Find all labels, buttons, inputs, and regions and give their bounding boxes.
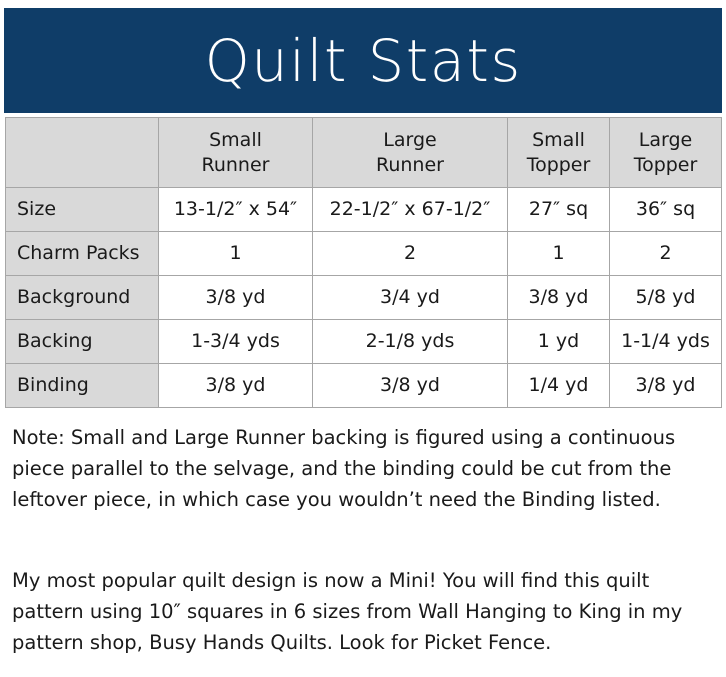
table-header: Small Runner Large Runner Small Topper L… — [6, 118, 722, 188]
note-line-1: Note: Small and Large Runner backing is … — [12, 422, 714, 453]
outro-line-1: My most popular quilt design is now a Mi… — [12, 565, 714, 596]
cell-charm-packs-large-runner: 2 — [313, 232, 508, 276]
outro-paragraph: My most popular quilt design is now a Mi… — [12, 565, 714, 658]
cell-background-small-topper: 3/8 yd — [508, 276, 610, 320]
column-header-line-2: Runner — [159, 153, 312, 177]
note-line-2: piece parallel to the selvage, and the b… — [12, 453, 714, 484]
cell-size-small-topper: 27″ sq — [508, 188, 610, 232]
cell-binding-small-runner: 3/8 yd — [159, 364, 313, 408]
cell-backing-small-topper: 1 yd — [508, 320, 610, 364]
cell-backing-small-runner: 1-3/4 yds — [159, 320, 313, 364]
column-header-line-1: Small — [508, 128, 609, 152]
row-label-charm-packs: Charm Packs — [6, 232, 159, 276]
column-header-large-runner: Large Runner — [313, 118, 508, 188]
cell-background-large-runner: 3/4 yd — [313, 276, 508, 320]
cell-charm-packs-large-topper: 2 — [610, 232, 722, 276]
table-row: Background 3/8 yd 3/4 yd 3/8 yd 5/8 yd — [6, 276, 722, 320]
quilt-stats-table: Small Runner Large Runner Small Topper L… — [5, 117, 722, 408]
table-row: Size 13-1/2″ x 54″ 22-1/2″ x 67-1/2″ 27″… — [6, 188, 722, 232]
column-header-line-1: Small — [159, 128, 312, 152]
table-row: Backing 1-3/4 yds 2-1/8 yds 1 yd 1-1/4 y… — [6, 320, 722, 364]
note-paragraph: Note: Small and Large Runner backing is … — [12, 422, 714, 515]
column-header-small-topper: Small Topper — [508, 118, 610, 188]
quilt-stats-table-wrapper: Small Runner Large Runner Small Topper L… — [5, 117, 721, 408]
table-body: Size 13-1/2″ x 54″ 22-1/2″ x 67-1/2″ 27″… — [6, 188, 722, 408]
page-title: Quilt Stats — [204, 32, 521, 90]
row-label-background: Background — [6, 276, 159, 320]
cell-charm-packs-small-topper: 1 — [508, 232, 610, 276]
table-row: Binding 3/8 yd 3/8 yd 1/4 yd 3/8 yd — [6, 364, 722, 408]
cell-charm-packs-small-runner: 1 — [159, 232, 313, 276]
cell-size-small-runner: 13-1/2″ x 54″ — [159, 188, 313, 232]
cell-binding-small-topper: 1/4 yd — [508, 364, 610, 408]
column-header-small-runner: Small Runner — [159, 118, 313, 188]
title-banner: Quilt Stats — [4, 8, 722, 113]
table-row: Charm Packs 1 2 1 2 — [6, 232, 722, 276]
column-header-large-topper: Large Topper — [610, 118, 722, 188]
note-line-3: leftover piece, in which case you wouldn… — [12, 484, 714, 515]
column-header-line-2: Runner — [313, 153, 507, 177]
column-header-line-2: Topper — [508, 153, 609, 177]
cell-backing-large-topper: 1-1/4 yds — [610, 320, 722, 364]
table-corner-cell — [6, 118, 159, 188]
table-header-row: Small Runner Large Runner Small Topper L… — [6, 118, 722, 188]
cell-binding-large-runner: 3/8 yd — [313, 364, 508, 408]
cell-background-small-runner: 3/8 yd — [159, 276, 313, 320]
column-header-line-2: Topper — [610, 153, 721, 177]
row-label-binding: Binding — [6, 364, 159, 408]
outro-line-3: pattern shop, Busy Hands Quilts. Look fo… — [12, 627, 714, 658]
outro-line-2: pattern using 10″ squares in 6 sizes fro… — [12, 596, 714, 627]
row-label-size: Size — [6, 188, 159, 232]
cell-backing-large-runner: 2-1/8 yds — [313, 320, 508, 364]
cell-background-large-topper: 5/8 yd — [610, 276, 722, 320]
row-label-backing: Backing — [6, 320, 159, 364]
cell-binding-large-topper: 3/8 yd — [610, 364, 722, 408]
column-header-line-1: Large — [313, 128, 507, 152]
column-header-line-1: Large — [610, 128, 721, 152]
cell-size-large-topper: 36″ sq — [610, 188, 722, 232]
cell-size-large-runner: 22-1/2″ x 67-1/2″ — [313, 188, 508, 232]
quilt-stats-page: Quilt Stats Small Runner Large — [0, 0, 726, 677]
